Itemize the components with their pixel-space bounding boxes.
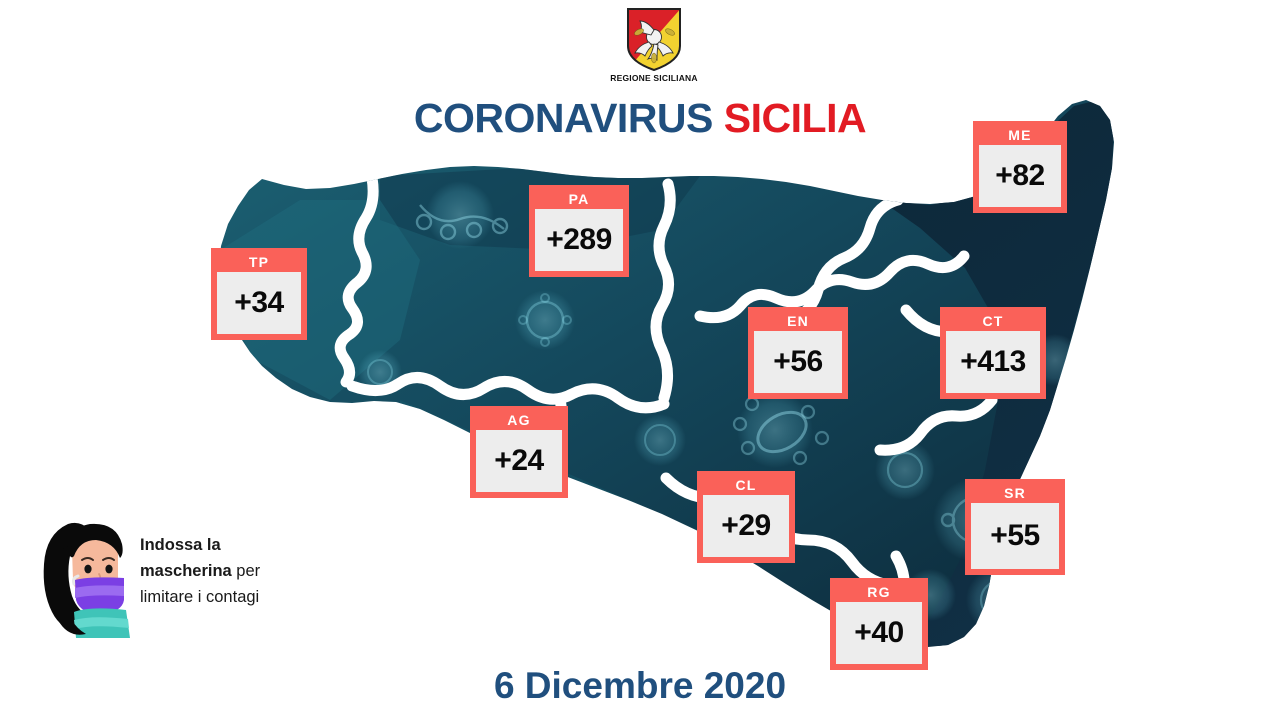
province-box-tp: TP+34 xyxy=(211,248,307,340)
province-code-label: EN xyxy=(787,312,809,331)
province-code-label: TP xyxy=(249,253,269,272)
province-value: +413 xyxy=(946,331,1040,393)
regione-siciliana-crest: REGIONE SICILIANA xyxy=(603,6,705,90)
province-box-ct: CT+413 xyxy=(940,307,1046,399)
report-date: 6 Dicembre 2020 xyxy=(0,665,1280,707)
crest-caption: REGIONE SICILIANA xyxy=(610,73,697,83)
province-code-label: AG xyxy=(507,411,530,430)
mask-text-line1: Indossa la xyxy=(140,536,221,554)
province-code-label: CL xyxy=(735,476,756,495)
mask-advisory-text: Indossa la mascherina per limitare i con… xyxy=(140,532,355,610)
province-box-sr: SR+55 xyxy=(965,479,1065,575)
mask-text-line2-bold: mascherina xyxy=(140,562,232,580)
province-value: +82 xyxy=(979,145,1061,207)
woman-wearing-mask-icon xyxy=(38,516,134,638)
page-title: CORONAVIRUS SICILIA xyxy=(0,98,1280,139)
province-value: +289 xyxy=(535,209,623,271)
mask-advisory: Indossa la mascherina per limitare i con… xyxy=(30,508,350,648)
mask-text-line3: limitare i contagi xyxy=(140,588,259,606)
province-value: +24 xyxy=(476,430,562,492)
province-box-rg: RG+40 xyxy=(830,578,928,670)
province-code-label: PA xyxy=(569,190,590,209)
province-value: +55 xyxy=(971,503,1059,569)
title-coronavirus: CORONAVIRUS xyxy=(414,95,713,141)
province-value: +29 xyxy=(703,495,789,557)
title-sicilia: SICILIA xyxy=(724,95,866,141)
mask-text-line2-rest: per xyxy=(232,562,260,580)
province-box-ag: AG+24 xyxy=(470,406,568,498)
province-box-pa: PA+289 xyxy=(529,185,629,277)
infographic-canvas: REGIONE SICILIANA CORONAVIRUS SICILIA TP… xyxy=(0,0,1280,720)
province-value: +40 xyxy=(836,602,922,664)
province-code-label: RG xyxy=(867,583,890,602)
province-box-cl: CL+29 xyxy=(697,471,795,563)
province-box-me: ME+82 xyxy=(973,121,1067,213)
province-code-label: CT xyxy=(982,312,1003,331)
province-box-en: EN+56 xyxy=(748,307,848,399)
province-code-label: ME xyxy=(1008,126,1031,145)
trinacria-icon xyxy=(625,6,683,72)
province-value: +34 xyxy=(217,272,301,334)
province-value: +56 xyxy=(754,331,842,393)
province-code-label: SR xyxy=(1004,484,1026,503)
